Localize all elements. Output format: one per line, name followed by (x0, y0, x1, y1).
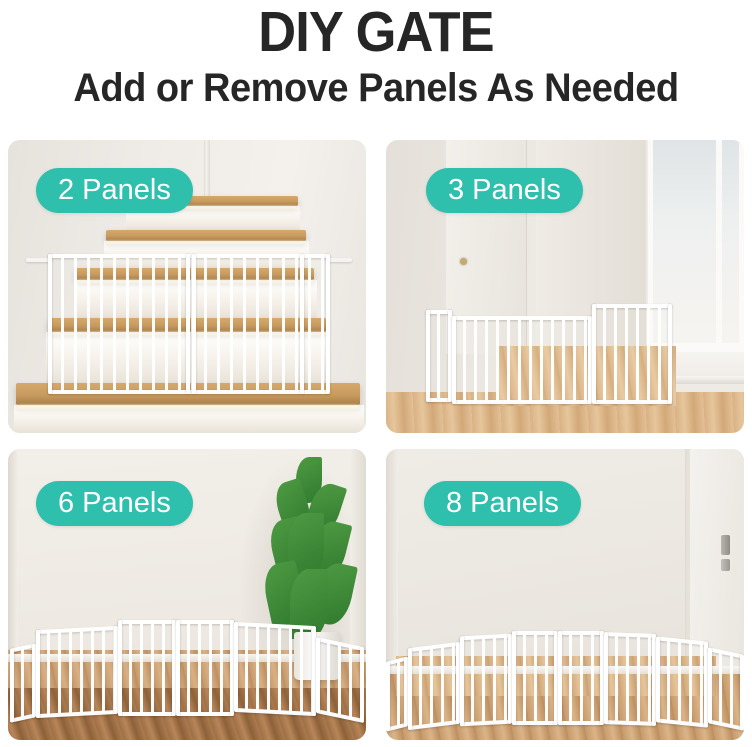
infographic-header: DIY GATE Add or Remove Panels As Needed (0, 0, 752, 110)
badge-eight-panels: 8 Panels (424, 481, 581, 526)
panel-configuration-grid: 2 Panels ✿ ❀ ✿ (8, 140, 744, 740)
badge-three-panels: 3 Panels (426, 168, 583, 213)
badge-two-panels: 2 Panels (36, 168, 193, 213)
panel-card-eight-panels[interactable]: 8 Panels (386, 449, 744, 740)
badge-six-panels: 6 Panels (36, 481, 193, 526)
safety-gate-six-panels (10, 616, 364, 726)
page-subtitle: Add or Remove Panels As Needed (19, 62, 733, 110)
panel-card-six-panels[interactable]: 6 Panels (8, 449, 366, 740)
door-handle-icon (721, 535, 730, 555)
panel-card-three-panels[interactable]: ✿ ❀ ✿ (386, 140, 744, 433)
door-lock-icon (721, 559, 730, 571)
panel-card-two-panels[interactable]: 2 Panels (8, 140, 366, 433)
safety-gate-two-panels (48, 254, 330, 394)
page-title: DIY GATE (30, 2, 722, 62)
safety-gate-three-panels (426, 300, 671, 410)
safety-gate-eight-panels (386, 619, 744, 734)
